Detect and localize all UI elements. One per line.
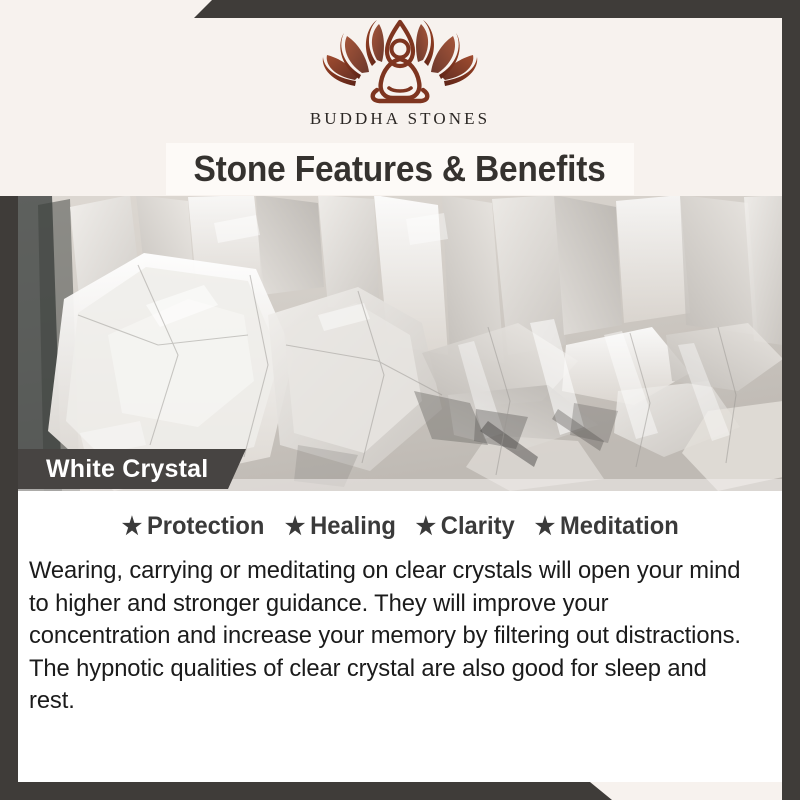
star-icon: ★ [535, 515, 555, 539]
frame-left-bar [0, 196, 18, 800]
benefit-label: Meditation [560, 512, 679, 541]
benefit-item-clarity: ★ Clarity [416, 512, 515, 541]
star-icon: ★ [416, 515, 436, 539]
stone-name-banner: White Crystal [18, 449, 246, 489]
benefit-item-protection: ★ Protection [122, 512, 265, 541]
benefit-label: Clarity [441, 512, 515, 541]
section-title-band: Stone Features & Benefits [166, 143, 634, 195]
page-title: Stone Features & Benefits [194, 148, 606, 190]
brand-logo: BUDDHA STONES [0, 18, 800, 129]
star-icon: ★ [285, 515, 305, 539]
benefit-item-meditation: ★ Meditation [535, 512, 679, 541]
stone-name-label: White Crystal [46, 455, 208, 484]
star-icon: ★ [122, 515, 142, 539]
description-text: Wearing, carrying or meditating on clear… [29, 555, 749, 718]
lotus-meditation-figure-icon [315, 18, 485, 106]
product-info-card: BUDDHA STONES Stone Features & Benefits [0, 0, 800, 800]
white-crystal-cluster-photo [18, 195, 783, 491]
frame-right-bar [782, 0, 800, 800]
benefit-label: Healing [310, 512, 396, 541]
card-body: ★ Protection ★ Healing ★ Clarity ★ Medit… [18, 491, 783, 782]
benefit-item-healing: ★ Healing [285, 512, 396, 541]
benefits-list: ★ Protection ★ Healing ★ Clarity ★ Medit… [18, 491, 783, 541]
brand-name: BUDDHA STONES [310, 109, 490, 129]
benefit-label: Protection [147, 512, 264, 541]
